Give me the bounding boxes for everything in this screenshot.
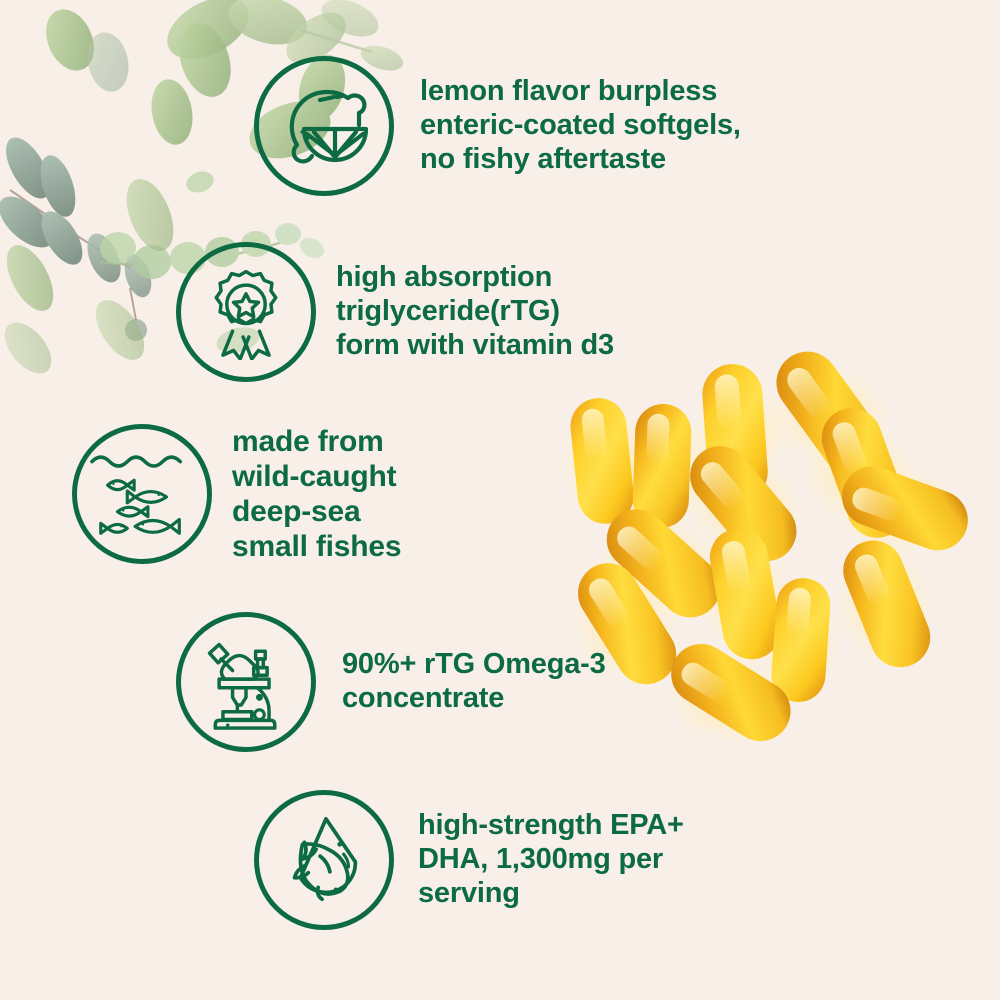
feature-item-high-absorption: high absorption triglyceride(rTG) form w… xyxy=(176,242,614,382)
microscope-icon xyxy=(198,634,294,730)
feature-label: 90%+ rTG Omega-3 concentrate xyxy=(342,648,606,716)
feature-label: lemon flavor burpless enteric-coated sof… xyxy=(420,75,741,177)
feature-item-wild-caught: made from wild-caught deep-sea small fis… xyxy=(72,424,401,564)
feature-icon-badge xyxy=(72,424,212,564)
product-feature-infographic: lemon flavor burpless enteric-coated sof… xyxy=(0,0,1000,1000)
feature-icon-badge xyxy=(176,612,316,752)
feature-icon-badge xyxy=(176,242,316,382)
feature-label: high-strength EPA+ DHA, 1,300mg per serv… xyxy=(418,809,684,911)
fish-school-icon xyxy=(88,440,196,548)
feature-icon-badge xyxy=(254,790,394,930)
lemon-slice-icon xyxy=(274,76,374,176)
feature-item-concentrate: 90%+ rTG Omega-3 concentrate xyxy=(176,612,606,752)
feature-label: high absorption triglyceride(rTG) form w… xyxy=(336,261,614,363)
feature-item-high-strength: high-strength EPA+ DHA, 1,300mg per serv… xyxy=(254,790,684,930)
feature-icon-badge xyxy=(254,56,394,196)
award-ribbon-icon xyxy=(198,264,294,360)
fish-droplet-icon xyxy=(275,811,373,909)
feature-label: made from wild-caught deep-sea small fis… xyxy=(232,424,401,564)
feature-item-lemon-flavor: lemon flavor burpless enteric-coated sof… xyxy=(254,56,741,196)
